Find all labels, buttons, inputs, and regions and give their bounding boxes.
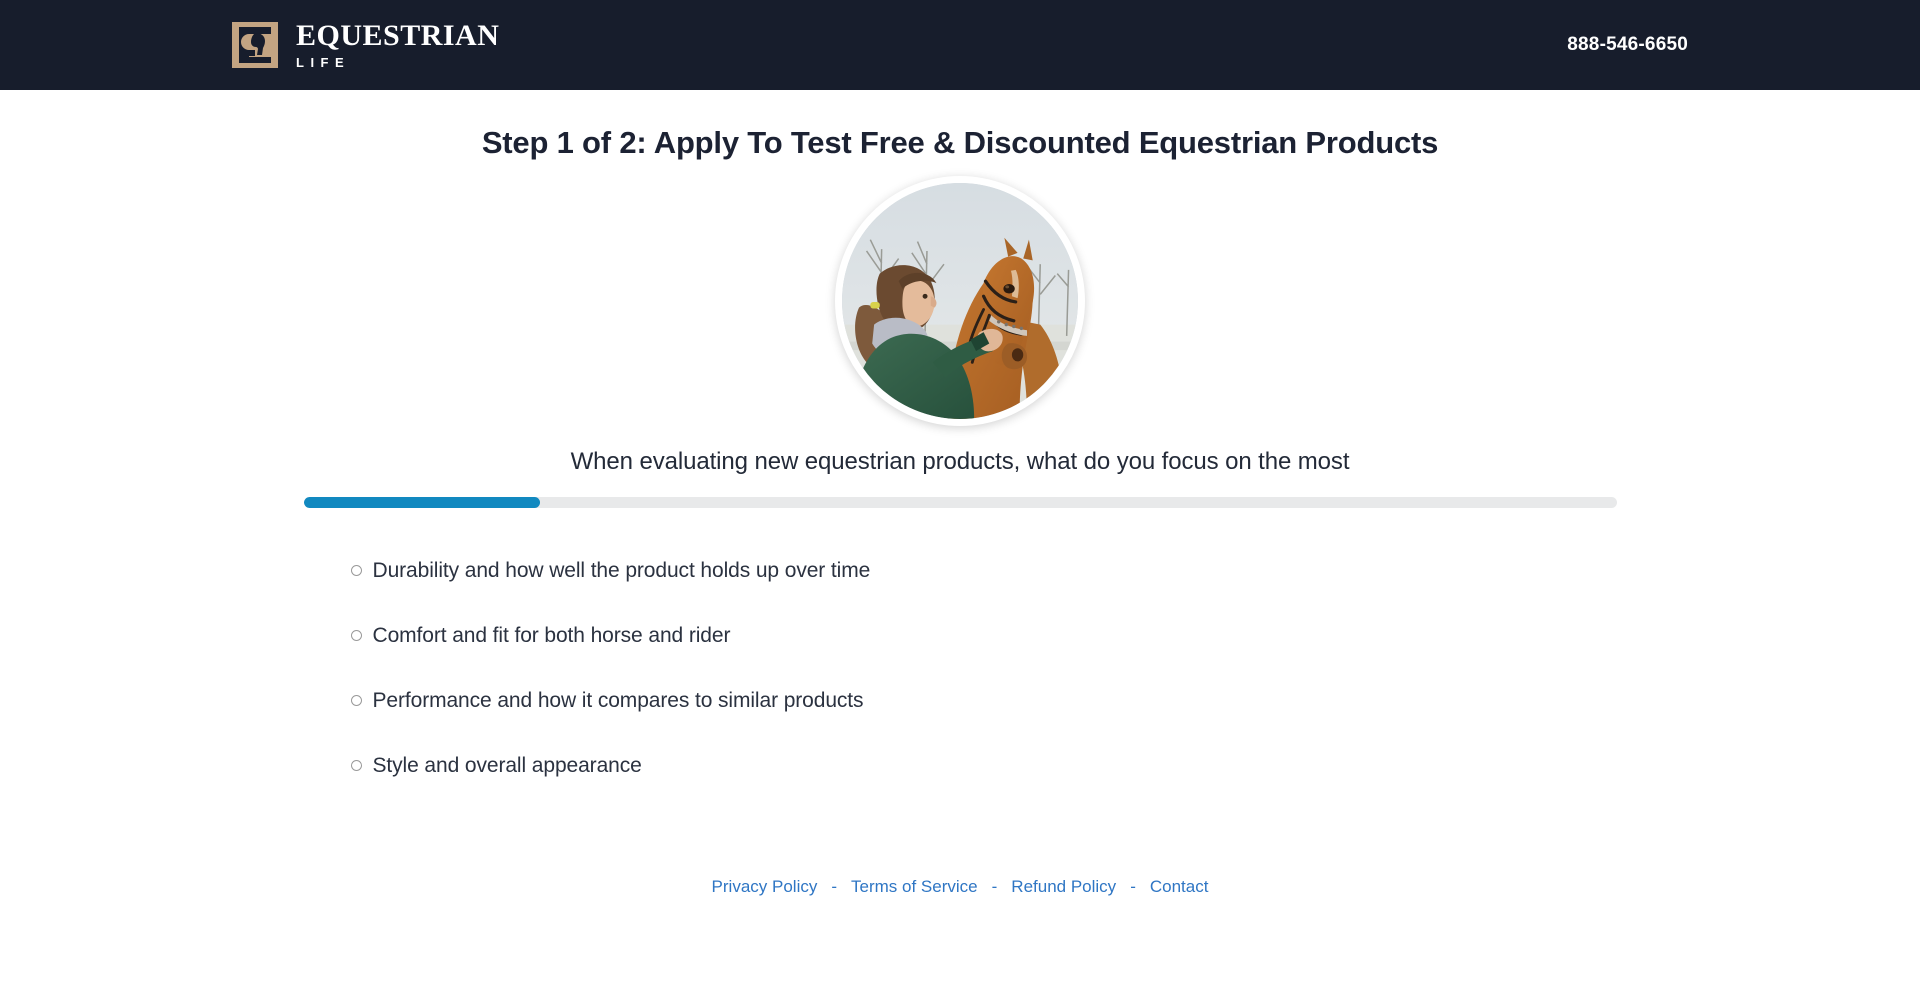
survey-option-durability[interactable]: Durability and how well the product hold…	[304, 538, 1617, 603]
horse-head-monogram-icon	[232, 22, 278, 68]
survey-question: When evaluating new equestrian products,…	[0, 448, 1920, 476]
site-footer: Privacy Policy - Terms of Service - Refu…	[0, 877, 1920, 897]
survey-option-performance[interactable]: Performance and how it compares to simil…	[304, 668, 1617, 733]
survey-options-list: Durability and how well the product hold…	[304, 508, 1617, 798]
radio-button-icon[interactable]	[351, 695, 362, 706]
footer-link-privacy-policy[interactable]: Privacy Policy	[712, 877, 818, 897]
survey-option-label: Durability and how well the product hold…	[373, 559, 871, 583]
hero-image-wrap	[0, 176, 1920, 426]
main-content: Step 1 of 2: Apply To Test Free & Discou…	[0, 90, 1920, 798]
radio-button-icon[interactable]	[351, 565, 362, 576]
footer-link-terms-of-service[interactable]: Terms of Service	[851, 877, 978, 897]
brand-tagline: LIFE	[296, 56, 499, 69]
footer-separator: -	[1130, 877, 1136, 897]
brand-name: EQUESTRIAN	[296, 21, 499, 51]
survey-option-label: Performance and how it compares to simil…	[373, 689, 864, 713]
brand-wordmark: EQUESTRIAN LIFE	[296, 21, 499, 69]
footer-link-refund-policy[interactable]: Refund Policy	[1011, 877, 1116, 897]
survey-option-label: Comfort and fit for both horse and rider	[373, 624, 731, 648]
survey-option-style[interactable]: Style and overall appearance	[304, 733, 1617, 798]
footer-separator: -	[831, 877, 837, 897]
woman-with-chestnut-horse-photo	[835, 176, 1085, 426]
header-phone-number[interactable]: 888-546-6650	[1567, 34, 1688, 56]
survey-option-label: Style and overall appearance	[373, 754, 642, 778]
footer-separator: -	[992, 877, 998, 897]
page-title: Step 1 of 2: Apply To Test Free & Discou…	[0, 125, 1920, 161]
radio-button-icon[interactable]	[351, 630, 362, 641]
footer-link-contact[interactable]: Contact	[1150, 877, 1209, 897]
survey-option-comfort[interactable]: Comfort and fit for both horse and rider	[304, 603, 1617, 668]
site-header: EQUESTRIAN LIFE 888-546-6650	[0, 0, 1920, 90]
radio-button-icon[interactable]	[351, 760, 362, 771]
progress-bar-fill	[304, 497, 540, 508]
progress-bar-track	[304, 497, 1617, 508]
brand-logo-link[interactable]: EQUESTRIAN LIFE	[232, 21, 499, 69]
